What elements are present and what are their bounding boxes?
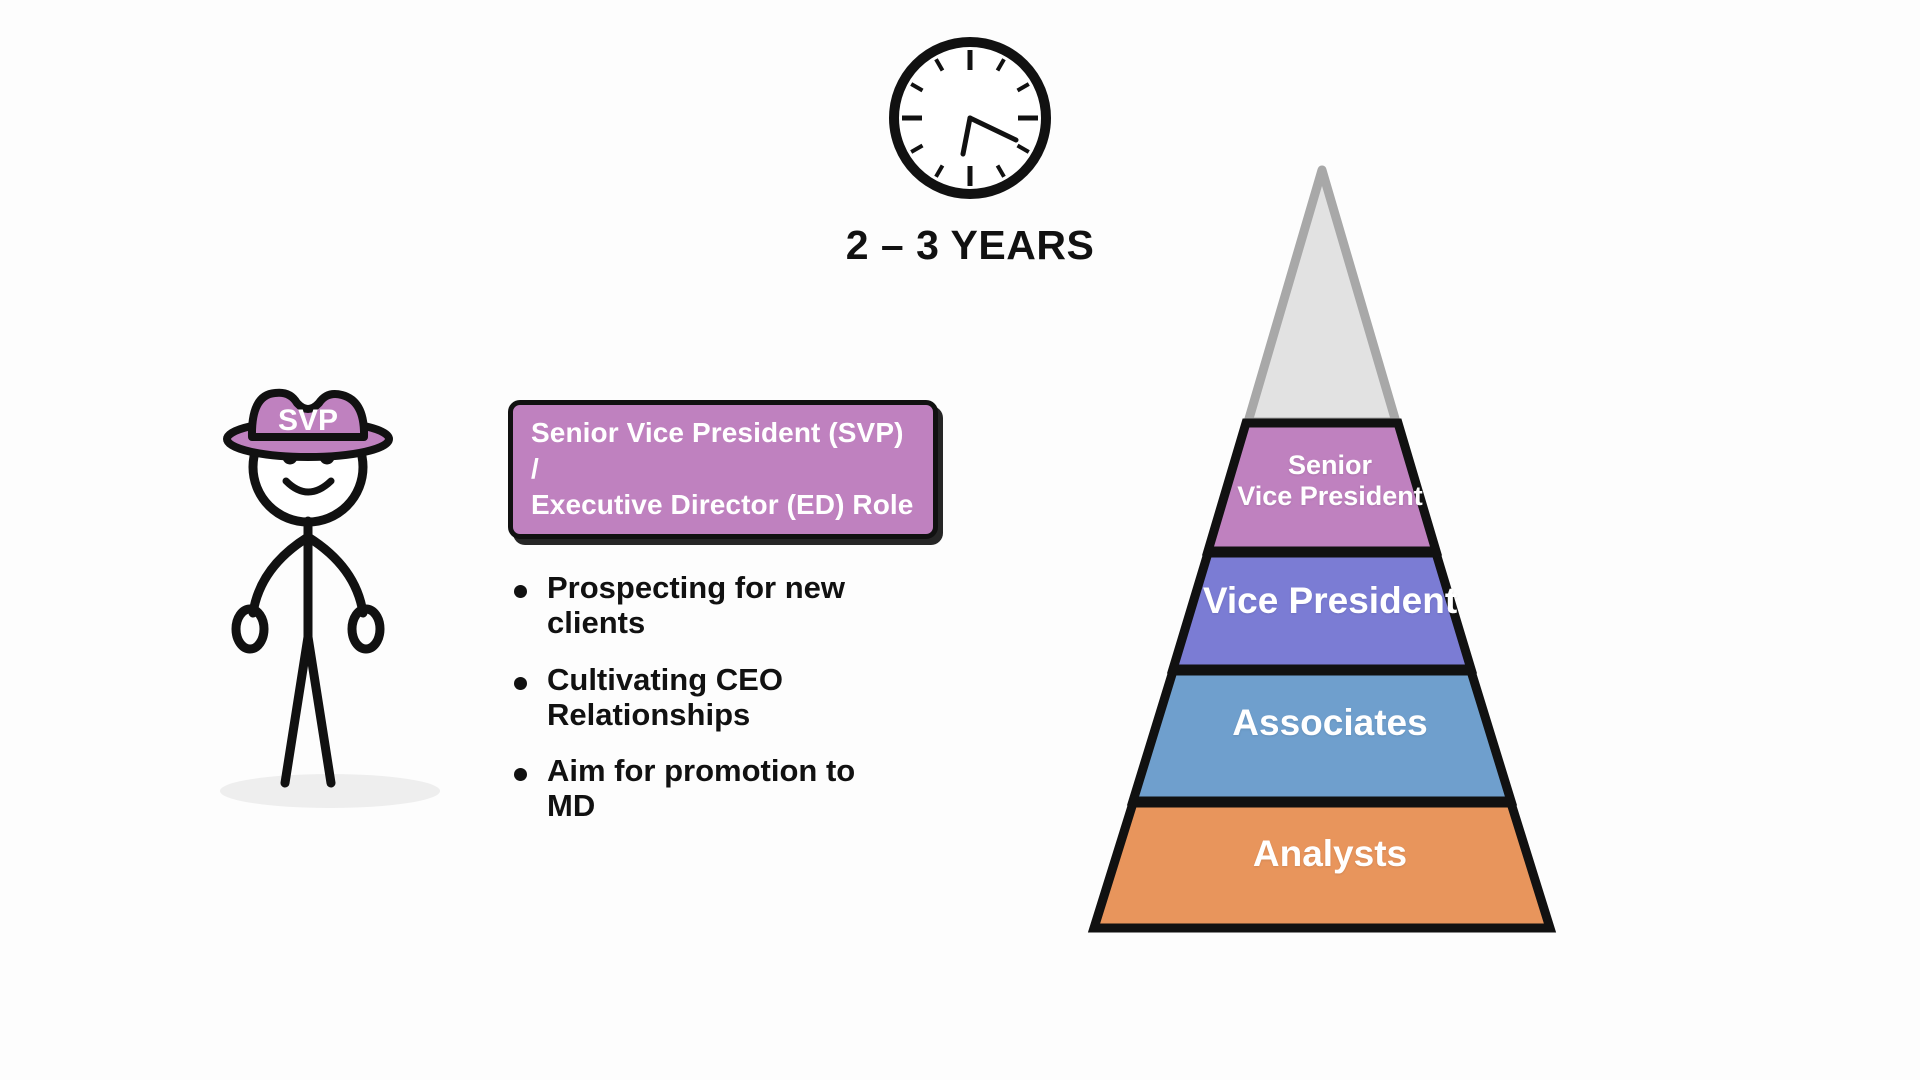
svp-hat: SVP — [227, 393, 389, 457]
role-title-banner: Senior Vice President (SVP) / Executive … — [508, 400, 938, 539]
bullet-dot-icon — [514, 768, 527, 781]
slide-canvas: 2 – 3 YEARS SVP — [0, 0, 1920, 1080]
role-title-line-1: Senior Vice President (SVP) / — [531, 415, 917, 487]
svp-hat-label: SVP — [278, 404, 338, 437]
stick-figure-persona: SVP — [205, 385, 485, 835]
pyramid-tier-analysts — [1094, 803, 1550, 928]
responsibility-text: Prospecting for new clients — [547, 571, 877, 640]
pyramid-tier-associates — [1133, 671, 1511, 801]
figure-arm-left — [253, 537, 308, 613]
figure-arm-right — [308, 537, 363, 613]
pyramid-tier-vice-president — [1173, 553, 1471, 669]
figure-leg-left — [285, 637, 308, 783]
figure-leg-right — [308, 637, 331, 783]
pyramid-tier-senior-vice-president — [1208, 423, 1436, 551]
bullet-dot-icon — [514, 585, 527, 598]
role-title-line-2: Executive Director (ED) Role — [531, 487, 917, 523]
bullet-dot-icon — [514, 677, 527, 690]
pyramid-tier-managing-director-apex — [1248, 170, 1396, 422]
responsibility-text: Aim for promotion to MD — [547, 754, 877, 823]
hierarchy-pyramid: Senior Vice President Vice President Ass… — [880, 150, 1780, 980]
responsibility-text: Cultivating CEO Relationships — [547, 663, 877, 732]
